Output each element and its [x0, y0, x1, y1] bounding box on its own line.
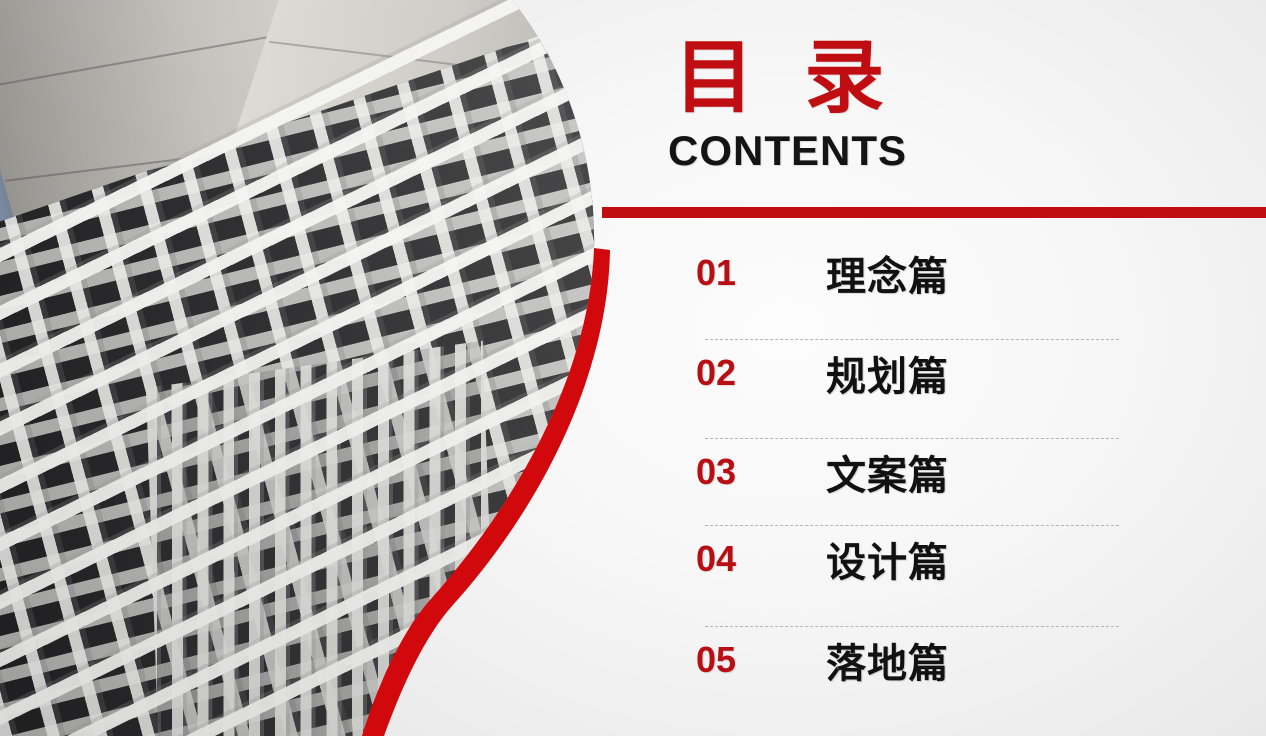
toc-list: 01 理念篇 02 规划篇 03 文案篇 04 设计篇 — [600, 240, 1266, 693]
toc-number: 01 — [696, 252, 826, 294]
photo-clip-shape — [0, 0, 620, 736]
content-panel: 目 录 CONTENTS 01 理念篇 02 规划篇 03 文案篇 — [600, 0, 1266, 736]
toc-number: 04 — [696, 538, 826, 580]
toc-item-01[interactable]: 01 理念篇 — [600, 240, 1266, 306]
toc-item-04[interactable]: 04 设计篇 — [600, 526, 1266, 592]
page-title-en: CONTENTS — [668, 130, 1194, 172]
slide-root: 目 录 CONTENTS 01 理念篇 02 规划篇 03 文案篇 — [0, 0, 1266, 736]
photo-panel — [0, 0, 620, 736]
toc-spacer — [600, 306, 1266, 339]
toc-spacer — [600, 406, 1266, 438]
toc-label: 文案篇 — [826, 443, 949, 501]
toc-spacer — [600, 592, 1266, 626]
toc-number: 05 — [696, 639, 826, 681]
toc-spacer — [600, 505, 1266, 525]
toc-label: 落地篇 — [826, 631, 949, 689]
toc-number: 03 — [696, 451, 826, 493]
toc-label: 理念篇 — [826, 244, 949, 302]
toc-label: 设计篇 — [826, 530, 949, 588]
page-title-block: 目 录 CONTENTS — [674, 38, 1194, 172]
title-divider-bar — [602, 207, 1266, 218]
toc-item-02[interactable]: 02 规划篇 — [600, 340, 1266, 406]
toc-item-05[interactable]: 05 落地篇 — [600, 627, 1266, 693]
toc-number: 02 — [696, 352, 826, 394]
photo-image — [0, 0, 620, 736]
photo-tone-overlay — [0, 0, 620, 736]
toc-label: 规划篇 — [826, 344, 949, 402]
page-title-cn: 目 录 — [674, 38, 1194, 118]
toc-item-03[interactable]: 03 文案篇 — [600, 439, 1266, 505]
